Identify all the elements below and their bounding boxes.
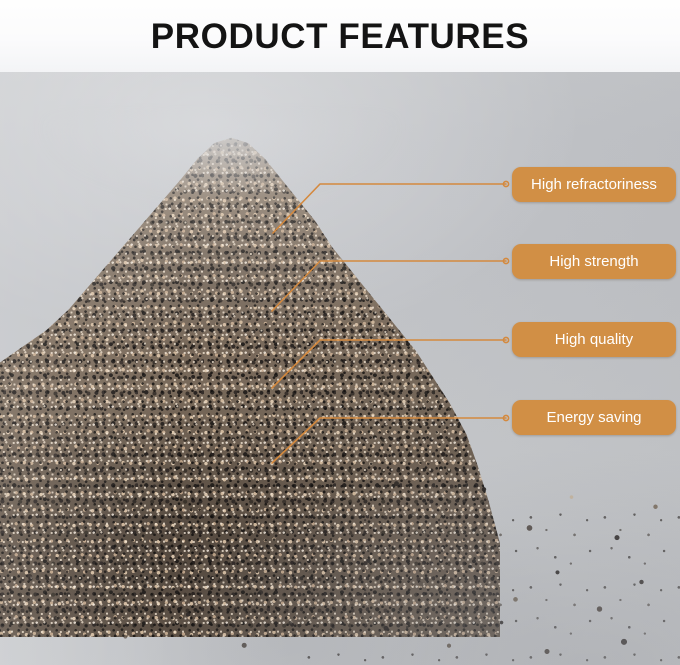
page-title: PRODUCT FEATURES (0, 17, 680, 57)
pile-body (0, 117, 500, 637)
grain-texture-coarse (0, 117, 500, 637)
grain-texture-fine (0, 117, 500, 637)
header-band: PRODUCT FEATURES (0, 0, 680, 72)
feature-badge-high-quality[interactable]: High quality (512, 322, 676, 357)
abrasive-grain-pile (0, 117, 500, 637)
feature-badge-high-refractoriness[interactable]: High refractoriness (512, 167, 676, 202)
feature-badge-energy-saving[interactable]: Energy saving (512, 400, 676, 435)
product-features-banner: PRODUCT FEATURES High refractoriness Hig… (0, 0, 680, 665)
product-photo (0, 72, 680, 665)
grain-texture-medium (0, 117, 500, 637)
feature-badge-high-strength[interactable]: High strength (512, 244, 676, 279)
